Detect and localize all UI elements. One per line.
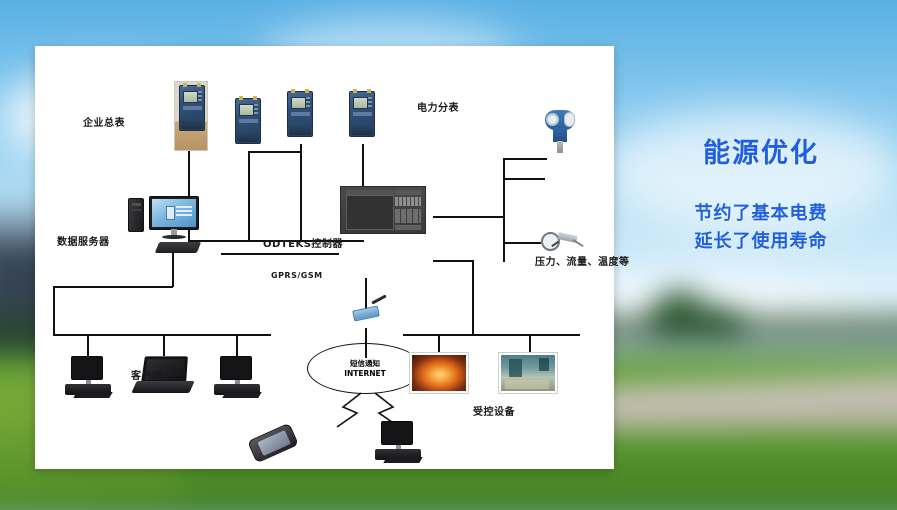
label-sub-meters: 电力分表 <box>417 104 459 114</box>
meter-base <box>289 125 311 135</box>
server-monitor <box>149 196 199 230</box>
meter-base <box>181 119 203 129</box>
meter-tab <box>253 96 257 100</box>
monitor-foot <box>162 235 186 239</box>
meter-buttons <box>306 97 310 109</box>
probe-tail <box>572 239 583 247</box>
pc-monitor <box>71 356 103 380</box>
line-to-gauge <box>503 242 541 244</box>
line-meter-bus <box>248 151 301 153</box>
transmitter-stem <box>557 141 563 153</box>
headline: 能源优化 <box>625 138 897 170</box>
benefit-line-1: 节约了基本电费 <box>625 200 897 228</box>
equipment-photo-plant <box>499 353 557 393</box>
line-sensor-riser <box>503 158 505 262</box>
pc-keyboard <box>73 392 112 398</box>
meter-buttons <box>254 104 258 116</box>
equipment-photo-furnace <box>410 353 468 393</box>
meter-display <box>353 97 368 109</box>
line-server-to-controller <box>221 253 339 255</box>
gprs-modem <box>353 304 383 320</box>
meter-strip <box>353 112 372 116</box>
plant-ground <box>505 380 548 389</box>
line-server-to-client-bus <box>53 286 173 288</box>
line-client-drop-2 <box>163 334 165 356</box>
controller-screen <box>346 195 394 230</box>
main-meter-device <box>174 81 208 151</box>
meter-tab <box>367 89 371 93</box>
controller-header <box>395 190 421 195</box>
controller-terminal-block <box>395 197 421 206</box>
line-client-drop-3 <box>236 334 238 356</box>
meter-strip <box>183 106 202 110</box>
meter-display <box>239 104 254 116</box>
server-keyboard <box>155 242 201 253</box>
meter-tab <box>291 89 295 93</box>
line-sensor-top <box>503 158 547 160</box>
benefit-line-2: 延长了使用寿命 <box>625 228 897 256</box>
screen-app-icon <box>166 206 175 220</box>
pressure-transmitter <box>545 108 575 154</box>
meter-base <box>237 132 259 142</box>
network-topology-diagram: 企业总表 <box>35 46 614 469</box>
server-screen <box>152 199 196 227</box>
wireless-zigzag-left <box>337 393 361 427</box>
meter-buttons <box>368 97 372 109</box>
meter-tab <box>353 89 357 93</box>
remote-desktop-pc <box>375 421 421 463</box>
line-client-bus-riser <box>53 286 55 335</box>
meter-display <box>183 91 198 103</box>
slide-canvas: 企业总表 <box>0 0 897 510</box>
odteks-controller <box>340 186 426 234</box>
line-equip-drop-2 <box>529 334 531 353</box>
remote-smartphone <box>247 423 299 464</box>
pc-keyboard <box>383 457 422 463</box>
meter-display <box>291 97 306 109</box>
meter-buttons <box>198 91 202 103</box>
line-client-drop-1 <box>87 334 89 356</box>
sub-meter-1 <box>235 98 261 144</box>
meter-tab <box>197 83 201 87</box>
line-controller-to-equipment-riser <box>472 260 474 334</box>
transmitter-body <box>553 128 567 142</box>
label-sensors: 压力、流量、温度等 <box>535 258 630 268</box>
line-to-transmitter <box>503 178 545 180</box>
line-controller-to-sensors <box>433 216 505 218</box>
meter-base <box>351 125 373 135</box>
meter-tab <box>305 89 309 93</box>
meter-strip <box>239 119 258 123</box>
label-gprs-gsm: GPRS/GSM <box>271 272 323 280</box>
plant-structure <box>509 359 522 376</box>
pc-monitor <box>381 421 413 445</box>
gauge-needle <box>551 241 558 247</box>
screen-chart <box>176 206 192 218</box>
internet-cloud: 短信通知 INTERNET <box>307 343 423 394</box>
laptop-base <box>131 381 194 393</box>
line-server-drop <box>172 253 174 287</box>
label-main-meter: 企业总表 <box>83 119 125 129</box>
pc-monitor <box>220 356 252 380</box>
label-clients: 客户端 <box>131 372 163 382</box>
sub-meter-2 <box>287 91 313 137</box>
line-submeter-drop-1 <box>248 151 250 241</box>
pc-keyboard <box>222 392 261 398</box>
antenna <box>371 294 387 304</box>
drive-slot <box>132 209 141 211</box>
server-tower <box>128 198 144 232</box>
line-controller-right <box>433 260 474 262</box>
line-equipment-bus <box>403 334 580 336</box>
client-pc-2 <box>214 356 260 398</box>
controller-keypad <box>395 209 421 223</box>
internet-cloud-text: 短信通知 INTERNET <box>344 359 386 378</box>
transmitter-dial <box>546 113 559 126</box>
marketing-copy: 能源优化 节约了基本电费 延长了使用寿命 <box>625 138 897 256</box>
phone-screen <box>257 430 291 456</box>
sub-meter-3 <box>349 91 375 137</box>
client-pc-1 <box>65 356 111 398</box>
line-equip-drop-1 <box>438 334 440 353</box>
label-controller: ODTEKS控制器 <box>263 240 343 250</box>
controller-footer <box>395 225 421 230</box>
plant-structure <box>539 358 549 371</box>
label-data-server: 数据服务器 <box>57 238 110 248</box>
transmitter-cap <box>564 112 575 127</box>
drive-slot <box>132 203 141 206</box>
diagram-panel: 企业总表 <box>35 46 614 469</box>
internet-line-2: INTERNET <box>344 369 386 378</box>
meter-strip <box>291 112 310 116</box>
label-controlled-equipment: 受控设备 <box>473 408 515 418</box>
line-client-bus <box>53 334 271 336</box>
pressure-gauge-probe <box>541 229 577 255</box>
modem-body <box>352 305 380 321</box>
meter-unit <box>179 85 205 131</box>
meter-tab <box>239 96 243 100</box>
internet-line-1: 短信通知 <box>344 359 386 368</box>
line-submeter-drop-2 <box>300 144 302 241</box>
meter-tab <box>183 83 187 87</box>
